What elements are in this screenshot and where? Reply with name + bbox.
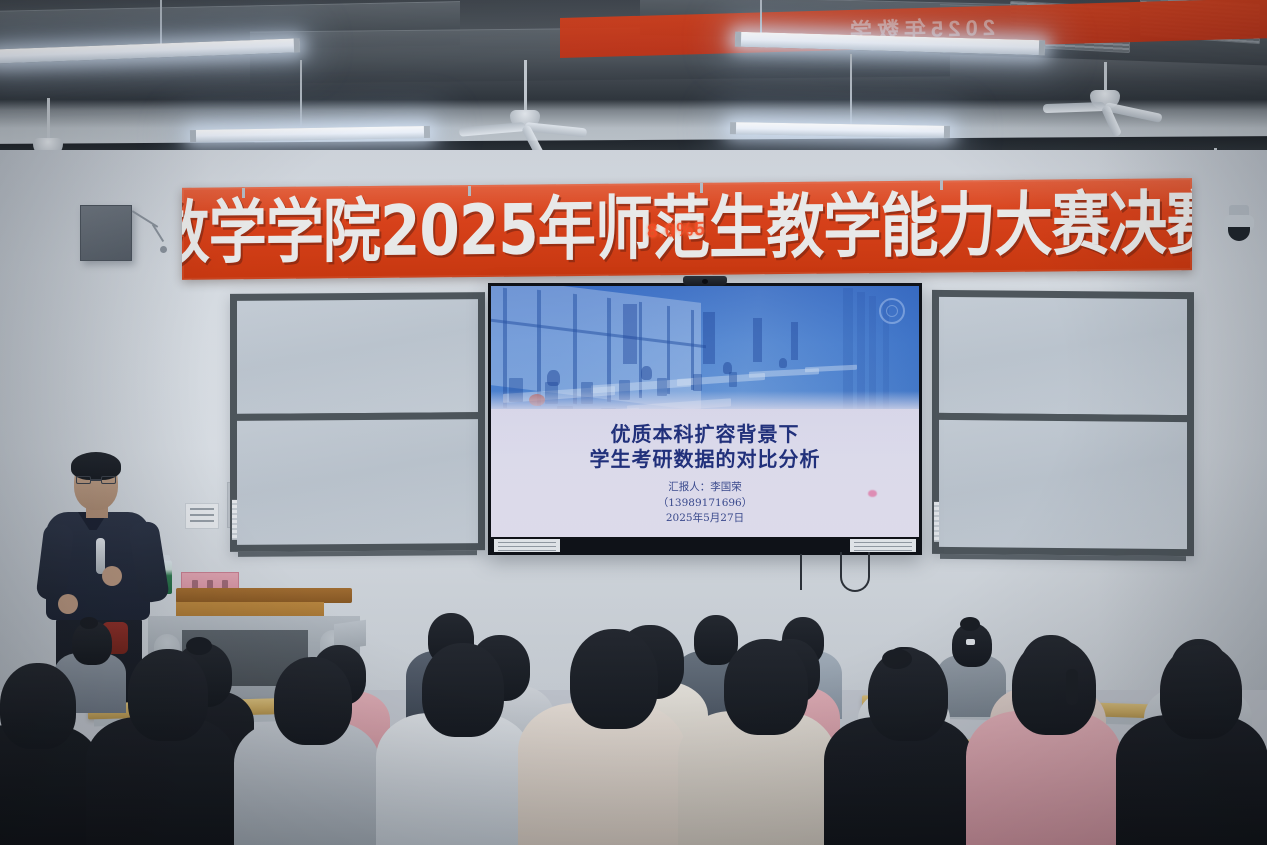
slide-date: 2025年5月27日 <box>491 511 919 527</box>
whiteboard-marker-strip <box>232 500 237 540</box>
wall-bracket <box>130 218 170 256</box>
glasses-icon <box>76 476 116 484</box>
presentation-display[interactable]: 优质本科扩容背景下 学生考研数据的对比分析 汇报人：李国荣 （139891716… <box>488 283 922 555</box>
banner-hook <box>700 183 703 193</box>
banner-hook <box>242 188 245 198</box>
slide-title-line-1: 优质本科扩容背景下 <box>491 422 919 447</box>
whiteboard-marker-strip <box>934 502 939 542</box>
whiteboard-pane-bottom <box>939 420 1187 549</box>
wall-notice-sheet <box>185 503 219 529</box>
banner-hook <box>468 186 471 196</box>
slide-presenter: 汇报人：李国荣 <box>491 480 919 496</box>
light-rod <box>850 54 852 126</box>
banner-watermark: 8.0%5 <box>646 219 706 244</box>
slide-screen: 优质本科扩容背景下 学生考研数据的对比分析 汇报人：李国荣 （139891716… <box>491 286 919 537</box>
light-rod <box>300 60 302 130</box>
event-banner: 数学学院2025年师范生教学能力大赛决赛 8.0%5 <box>182 178 1192 280</box>
slide-phone: （13989171696） <box>491 496 919 512</box>
presenter-hand-right <box>102 566 122 586</box>
slide-title: 优质本科扩容背景下 学生考研数据的对比分析 <box>491 409 919 472</box>
audience <box>0 585 1267 845</box>
whiteboard-pane-top <box>939 297 1187 415</box>
banner-hook <box>940 180 943 190</box>
whiteboard-pane-bottom <box>237 419 478 545</box>
slide-meta: 汇报人：李国荣 （13989171696） 2025年5月27日 <box>491 480 919 527</box>
whiteboard-left <box>230 292 485 552</box>
display-label-left <box>494 539 560 552</box>
whiteboard-pane-top <box>237 299 478 414</box>
slide-text-block: 优质本科扩容背景下 学生考研数据的对比分析 汇报人：李国荣 （139891716… <box>491 409 919 537</box>
whiteboard-right <box>932 290 1194 556</box>
university-logo-watermark <box>879 298 905 324</box>
dome-camera <box>1222 205 1256 247</box>
lecture-hall-screenshot: 2025年数学 <box>0 0 1267 845</box>
display-label-right <box>850 539 916 552</box>
display-top-camera <box>683 276 727 286</box>
laser-pointer-dot <box>868 490 877 497</box>
slide-title-line-2: 学生考研数据的对比分析 <box>491 447 919 472</box>
wall-speaker-box <box>80 205 132 261</box>
slide-photo-banner <box>491 286 919 414</box>
